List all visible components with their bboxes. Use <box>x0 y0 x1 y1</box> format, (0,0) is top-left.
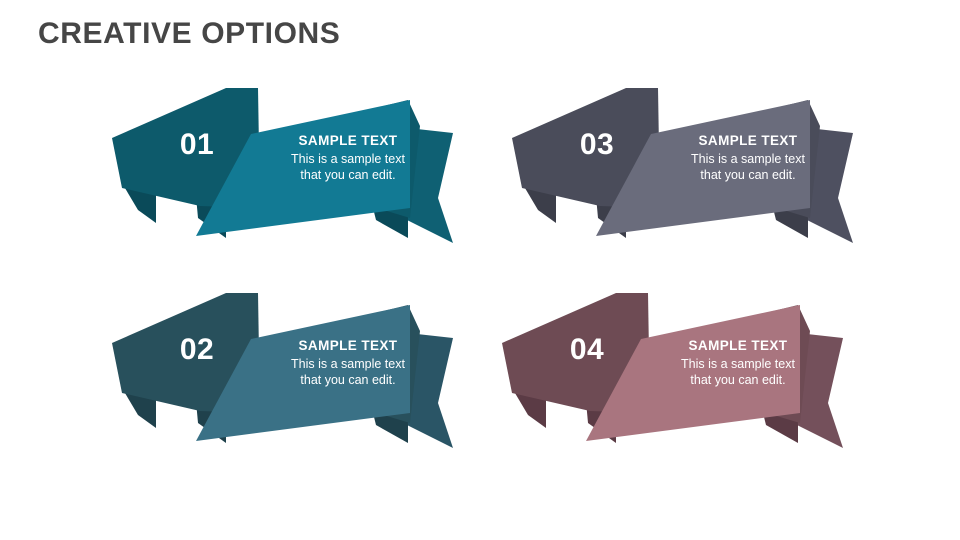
banner-shape-03 <box>508 78 888 278</box>
banner-shape-04 <box>498 283 878 483</box>
option-banner-01[interactable]: 01 SAMPLE TEXT This is a sample text tha… <box>108 78 488 278</box>
banner-shape-02 <box>108 283 488 483</box>
page-title: CREATIVE OPTIONS <box>38 17 340 51</box>
slide-canvas: CREATIVE OPTIONS 01 SAMPLE TEXT This is … <box>0 0 960 540</box>
option-banner-04[interactable]: 04 SAMPLE TEXT This is a sample text tha… <box>498 283 878 483</box>
option-banner-03[interactable]: 03 SAMPLE TEXT This is a sample text tha… <box>508 78 888 278</box>
option-banner-02[interactable]: 02 SAMPLE TEXT This is a sample text tha… <box>108 283 488 483</box>
banner-shape-01 <box>108 78 488 278</box>
